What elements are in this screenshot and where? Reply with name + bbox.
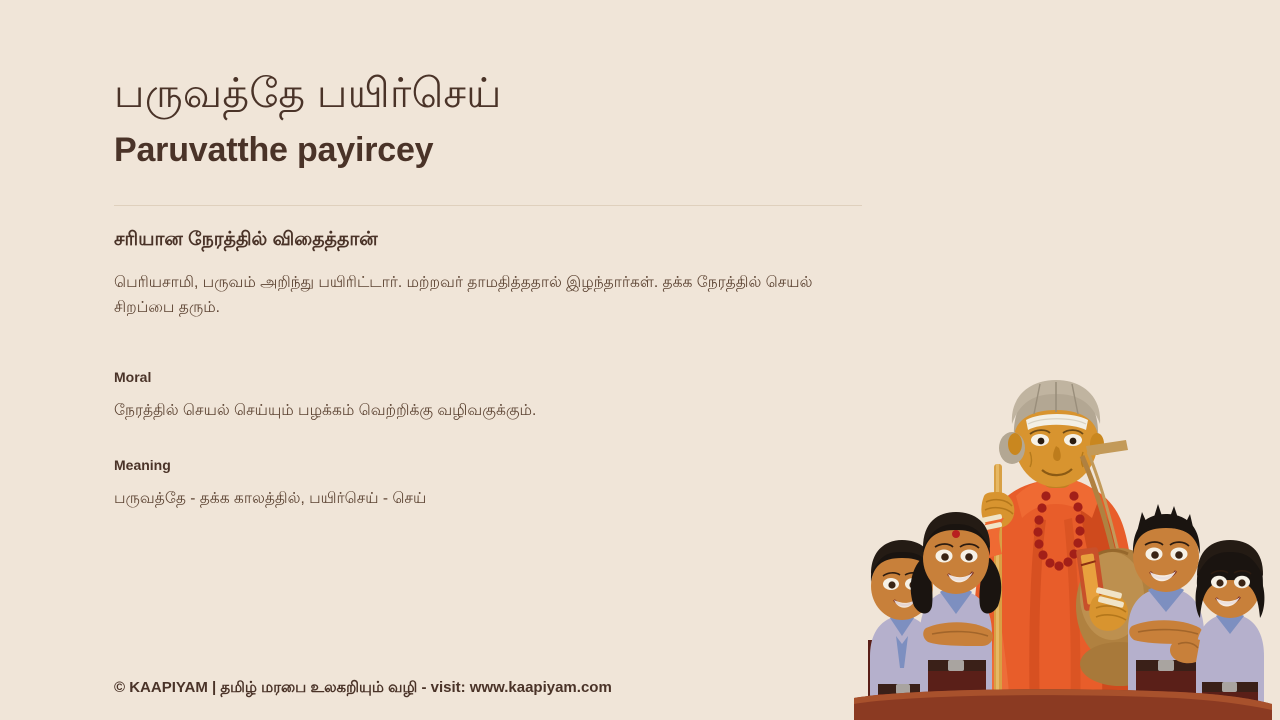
moral-block: Moral நேரத்தில் செயல் செய்யும் பழக்கம் வ…: [114, 320, 874, 424]
page-title-transliteration: Paruvatthe payircey: [114, 117, 874, 170]
moral-text: நேரத்தில் செயல் செய்யும் பழக்கம் வெற்றிக…: [114, 386, 874, 424]
page-title-tamil: பருவத்தே பயிர்செய்: [114, 0, 874, 117]
poster-page: பருவத்தே பயிர்செய் Paruvatthe payircey ச…: [0, 0, 1280, 720]
footer-credit: © KAAPIYAM | தமிழ் மரபை உலகறியும் வழி - …: [114, 678, 612, 698]
meaning-text: பருவத்தே - தக்க காலத்தில், பயிர்செய் - ச…: [114, 474, 874, 512]
meaning-label: Meaning: [114, 456, 874, 474]
story-body-text: பெரியசாமி, பருவம் அறிந்து பயிரிட்டார். ம…: [114, 253, 844, 320]
story-heading: சரியான நேரத்தில் விதைத்தான்: [114, 206, 874, 253]
elder-sage-with-four-children-illustration: [840, 368, 1280, 720]
content-column: பருவத்தே பயிர்செய் Paruvatthe payircey ச…: [114, 0, 874, 512]
meaning-block: Meaning பருவத்தே - தக்க காலத்தில், பயிர்…: [114, 424, 874, 512]
moral-label: Moral: [114, 368, 874, 386]
